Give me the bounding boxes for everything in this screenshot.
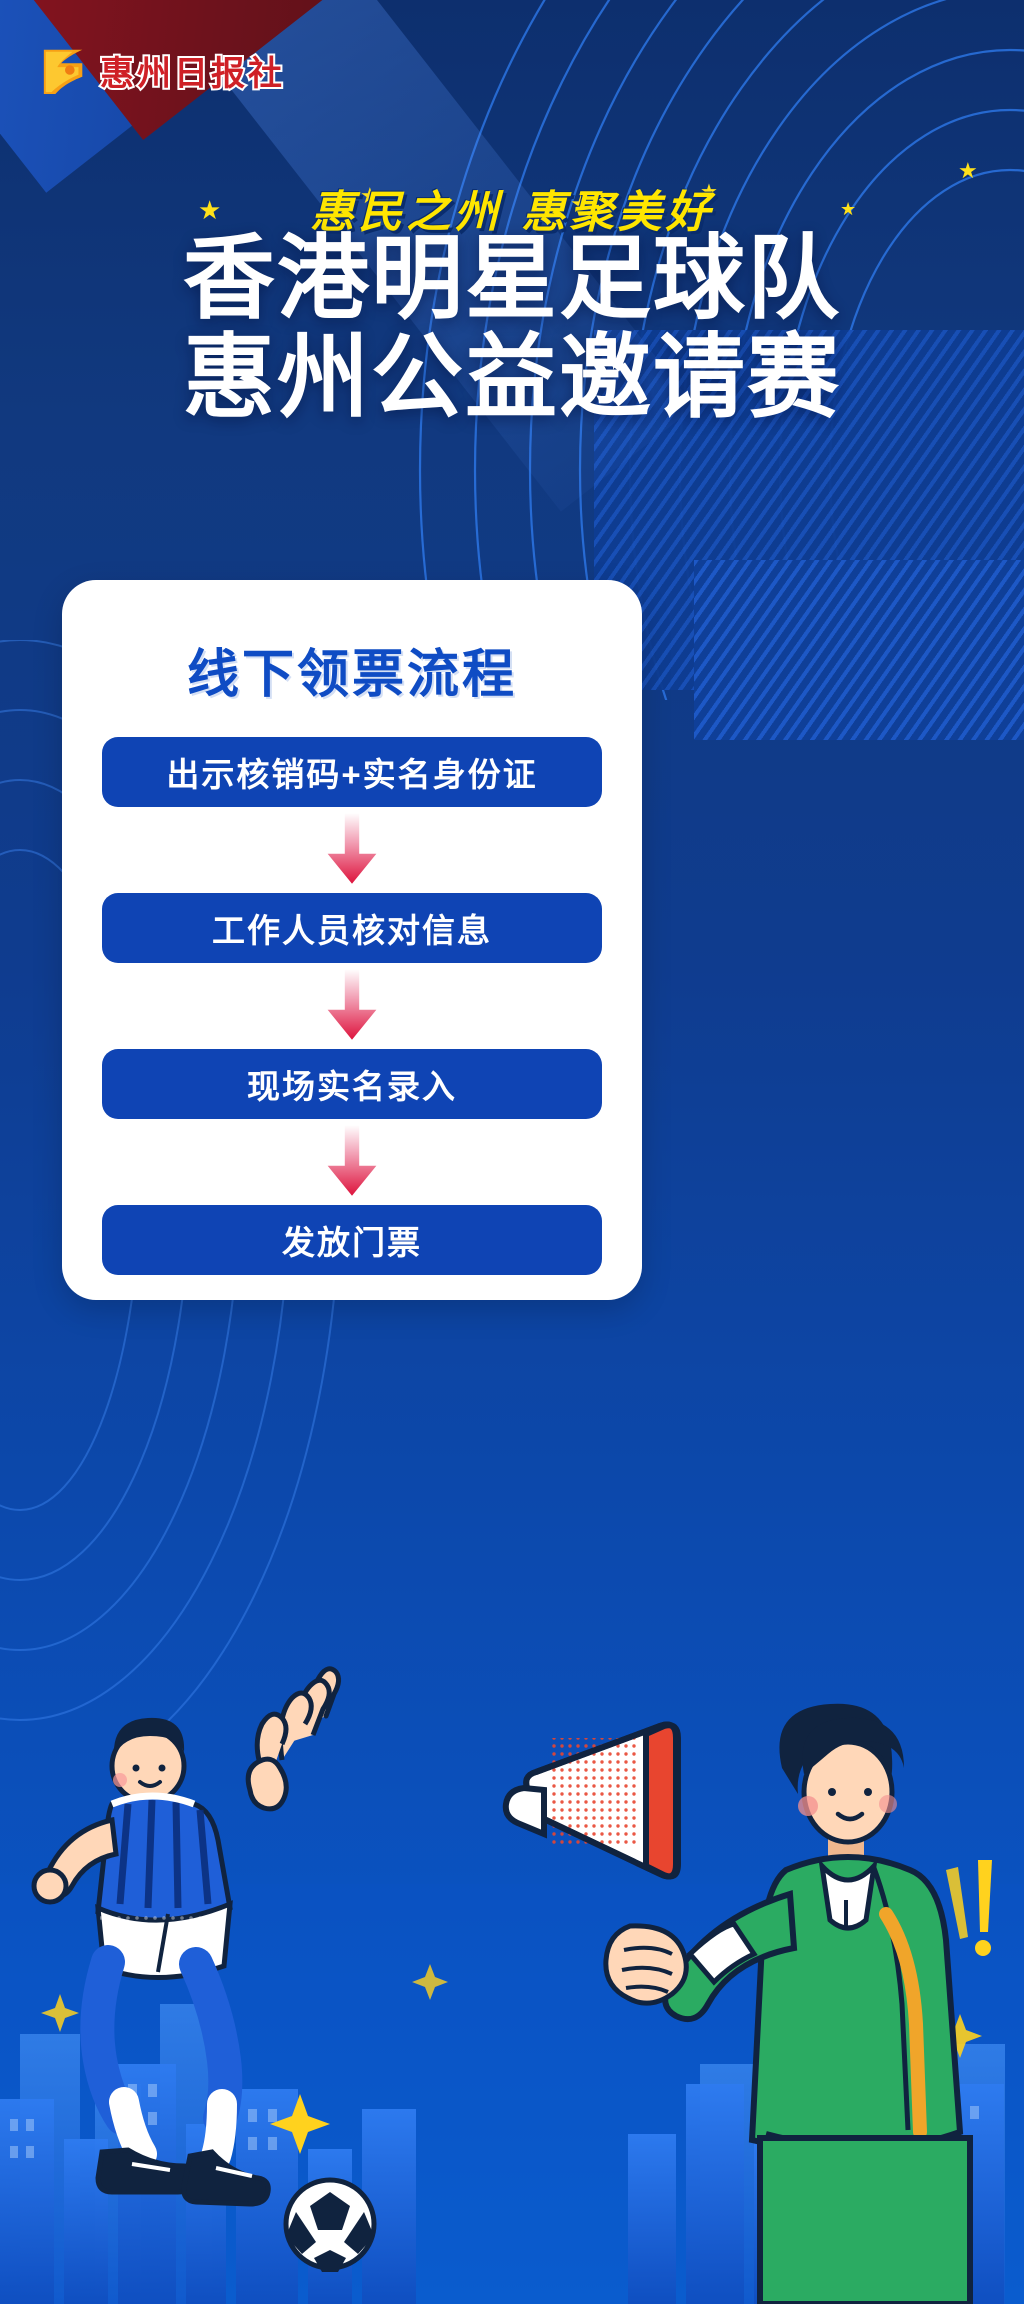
huizhou-daily-logo-mark bbox=[40, 44, 90, 96]
arrow-3 bbox=[102, 1119, 602, 1205]
brand-logo: 惠州日报社 bbox=[40, 44, 285, 96]
down-arrow-icon bbox=[322, 1125, 382, 1199]
process-step-2[interactable]: 工作人员核对信息 bbox=[102, 893, 602, 963]
brand-name: 惠州日报社 bbox=[100, 46, 285, 95]
background-hatch-right-lower bbox=[694, 560, 1024, 740]
process-step-4[interactable]: 发放门票 bbox=[102, 1205, 602, 1275]
process-card: 线下领票流程 出示核销码+实名身份证 工作人员核对信息 现场实名录入 bbox=[62, 580, 642, 1300]
exclamation-icon bbox=[946, 1860, 992, 1956]
down-arrow-icon bbox=[322, 813, 382, 887]
process-step-3[interactable]: 现场实名录入 bbox=[102, 1049, 602, 1119]
card-title: 线下领票流程 bbox=[102, 632, 602, 707]
page-title: 香港明星足球队 惠州公益邀请赛 bbox=[0, 230, 1024, 429]
process-step-1[interactable]: 出示核销码+实名身份证 bbox=[102, 737, 602, 807]
megaphone-icon bbox=[506, 1725, 678, 1877]
arrow-2 bbox=[102, 963, 602, 1049]
down-arrow-icon bbox=[322, 969, 382, 1043]
title-line-1: 香港明星足球队 bbox=[183, 228, 841, 330]
bottom-illustration bbox=[0, 1664, 1024, 2304]
poster-root: ★ ★ ★ ★ ★ ★ 惠州日报社 惠民之州 惠聚美好 香港明星足球队 惠州公益… bbox=[0, 0, 1024, 2304]
title-line-2: 惠州公益邀请赛 bbox=[0, 329, 1024, 428]
soccer-ball-icon bbox=[286, 2180, 374, 2272]
arrow-1 bbox=[102, 807, 602, 893]
